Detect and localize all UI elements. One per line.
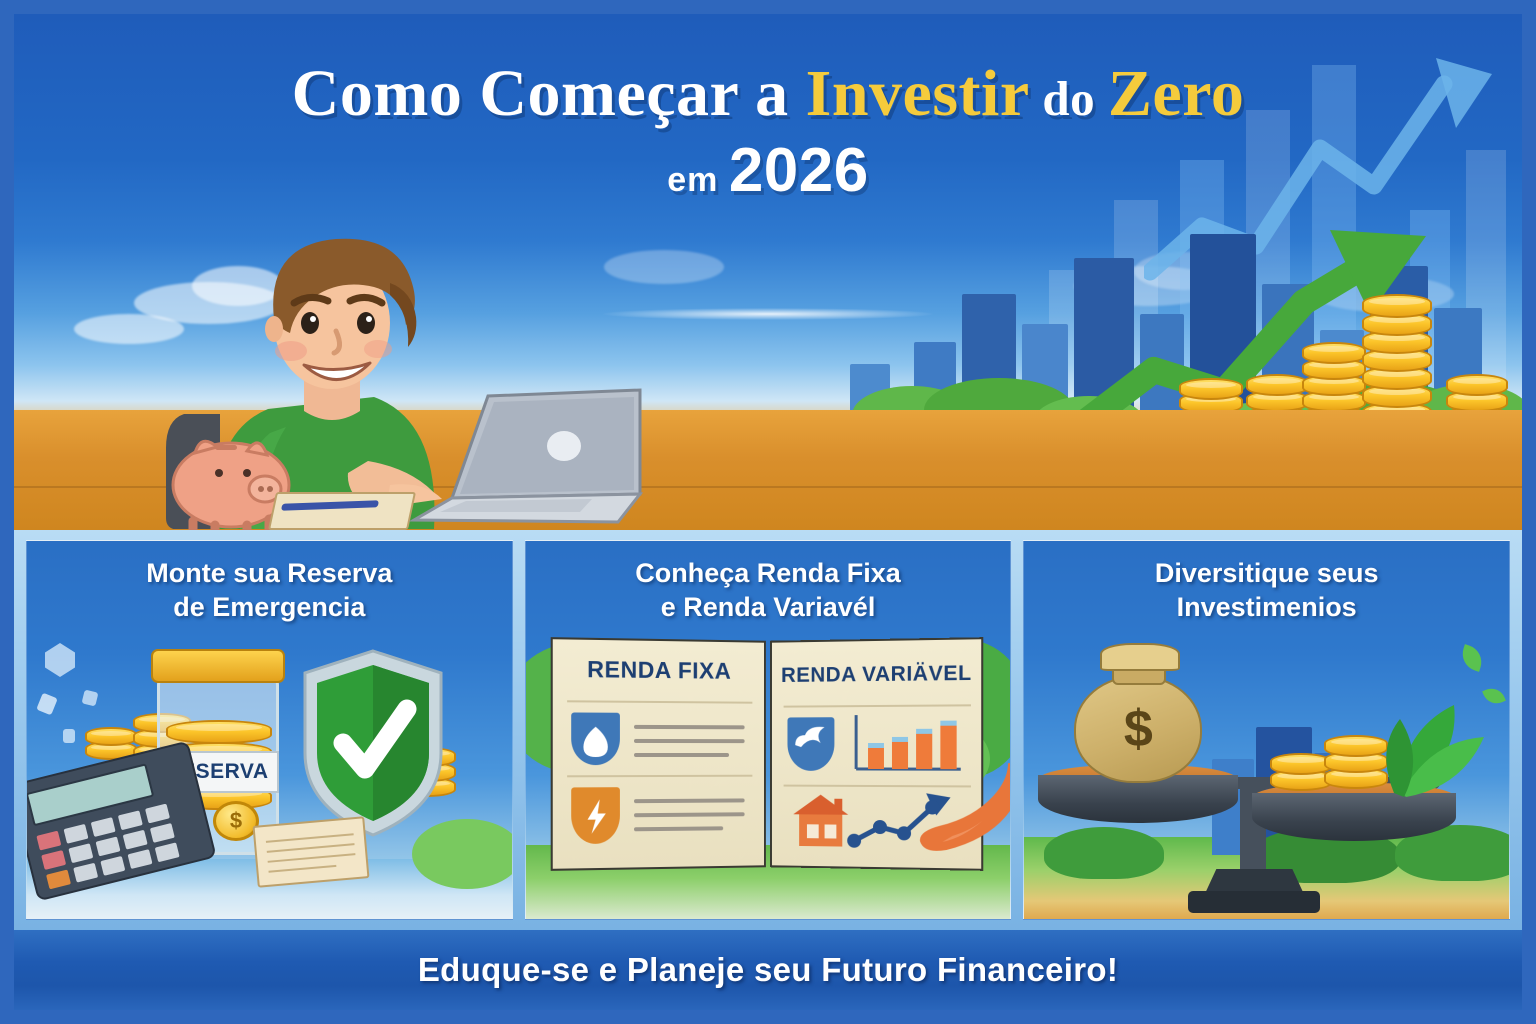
card-1-title-line2: de Emergencia xyxy=(37,591,502,625)
open-book-icon: RENDA FIXA xyxy=(552,639,982,869)
notepad-icon xyxy=(253,816,370,888)
text-line xyxy=(634,826,723,831)
note-line xyxy=(266,833,354,843)
dollar-coin-icon: $ xyxy=(213,801,259,841)
book-page-left: RENDA FIXA xyxy=(550,637,765,871)
leaf-icon xyxy=(1368,695,1488,799)
calculator-key xyxy=(123,830,148,850)
calculator-key xyxy=(46,869,71,889)
note-line xyxy=(268,853,356,863)
card-3-illustration: $ xyxy=(1024,633,1509,919)
title-underline-swoosh xyxy=(603,308,933,320)
card-1-illustration: RESERVA $ xyxy=(27,633,512,919)
card-3-title: Diversitique seus Investimenios xyxy=(1024,541,1509,633)
leaf-icon xyxy=(1458,644,1486,672)
note-line xyxy=(268,865,336,873)
chart-badge-icon xyxy=(787,717,834,771)
cards-row: Monte sua Reserva de Emergencia xyxy=(14,530,1522,930)
laptop-icon xyxy=(404,382,644,530)
card-2-title: Conheça Renda Fixa e Renda Variavél xyxy=(526,541,1011,633)
card-2-title-line2: e Renda Variavél xyxy=(536,591,1001,625)
text-line xyxy=(634,739,745,743)
jar-lid-icon xyxy=(151,649,285,683)
calculator-key xyxy=(73,863,98,883)
card-reserva-emergencia[interactable]: Monte sua Reserva de Emergencia xyxy=(26,540,513,920)
page-left-heading: RENDA FIXA xyxy=(552,655,763,685)
page-subtitle: em 2026 xyxy=(14,135,1522,206)
notepad-icon xyxy=(268,492,416,530)
card-diversifique-investimentos[interactable]: Diversitique seus Investimenios xyxy=(1023,540,1510,920)
balance-scale-foot xyxy=(1188,891,1320,913)
calculator-key xyxy=(91,817,116,837)
divider xyxy=(567,700,752,703)
divider xyxy=(567,775,752,778)
card-2-title-line1: Conheça Renda Fixa xyxy=(536,557,1001,591)
calculator-key xyxy=(145,804,170,824)
card-3-title-line2: Investimenios xyxy=(1034,591,1499,625)
card-renda-fixa-variavel[interactable]: Conheça Renda Fixa e Renda Variavél REND… xyxy=(525,540,1012,920)
house-icon xyxy=(789,791,852,849)
card-1-title-line1: Monte sua Reserva xyxy=(37,557,502,591)
calculator-key xyxy=(155,842,180,862)
infographic-poster: $ xyxy=(0,0,1536,1024)
calculator-key xyxy=(64,824,89,844)
shield-check-icon xyxy=(299,647,447,839)
sparkle-icon xyxy=(36,693,58,716)
page-title: Como Começar a Investir do Zero xyxy=(14,60,1522,127)
money-bag-symbol: $ xyxy=(1124,699,1153,759)
note-line xyxy=(267,843,355,853)
card-2-illustration: RENDA FIXA xyxy=(526,633,1011,919)
footer-banner: Eduque-se e Planeje seu Futuro Financeir… xyxy=(14,930,1522,1010)
title-part-1: Como Começar a xyxy=(292,57,806,130)
subtitle-year: 2026 xyxy=(729,136,869,205)
calculator-key xyxy=(118,810,143,830)
money-bag-top xyxy=(1100,643,1180,671)
sparkle-icon xyxy=(45,643,75,677)
hand-icon xyxy=(912,759,1011,861)
money-bag-icon: $ xyxy=(1074,675,1202,783)
calculator-key xyxy=(100,856,125,876)
book-page-right: RENDA VARIÄVEL xyxy=(770,637,983,871)
bolt-badge-icon xyxy=(571,787,620,844)
title-highlight-zero: Zero xyxy=(1108,57,1244,130)
calculator-key xyxy=(128,849,153,869)
title-highlight-investir: Investir xyxy=(806,57,1030,130)
calculator-key xyxy=(68,843,93,863)
shield-badge-icon xyxy=(571,712,620,765)
coin-stack-icon xyxy=(1270,737,1332,793)
title-connector-do: do xyxy=(1030,71,1108,126)
calculator-key xyxy=(41,850,66,870)
calculator-key xyxy=(96,837,121,857)
subtitle-prefix: em xyxy=(667,161,729,199)
calculator-key xyxy=(150,823,175,843)
page-right-heading: RENDA VARIÄVEL xyxy=(772,662,981,688)
text-line xyxy=(634,725,745,729)
card-1-title: Monte sua Reserva de Emergencia xyxy=(27,541,512,633)
text-line xyxy=(634,753,729,757)
coin-stack-icon xyxy=(1362,260,1432,430)
title-block: Como Começar a Investir do Zero em 2026 xyxy=(14,60,1522,206)
pan-right xyxy=(1252,793,1456,841)
sparkle-icon xyxy=(82,690,99,707)
text-line xyxy=(634,798,745,803)
calculator-key xyxy=(36,831,61,851)
footer-text: Eduque-se e Planeje seu Futuro Financeir… xyxy=(418,951,1118,989)
bush-icon xyxy=(1044,827,1164,879)
text-line xyxy=(634,812,745,817)
poster-inner-frame: $ xyxy=(14,14,1522,1010)
card-3-title-line1: Diversitique seus xyxy=(1034,557,1499,591)
divider xyxy=(783,704,970,707)
sparkle-icon xyxy=(63,729,75,743)
